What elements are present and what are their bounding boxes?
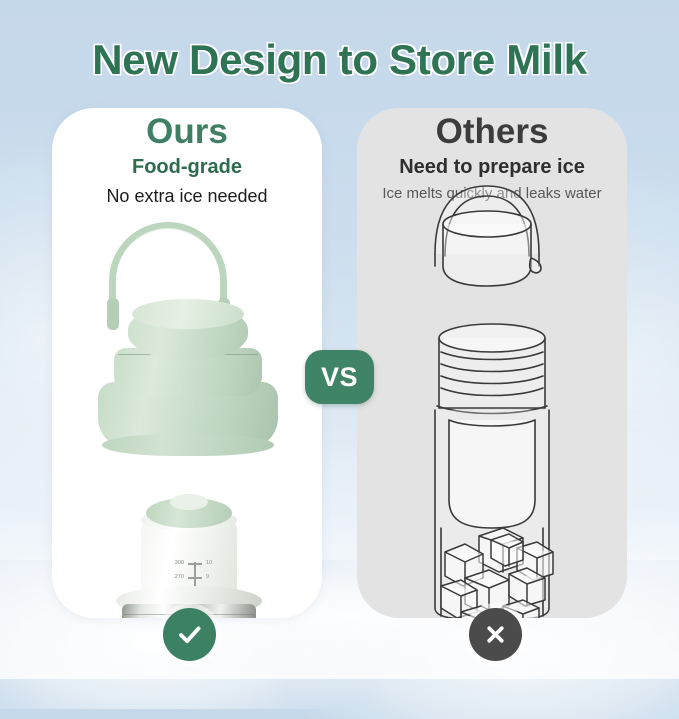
check-icon <box>175 620 204 649</box>
vs-badge: VS <box>305 350 374 404</box>
milk-container-lid-knob <box>170 494 208 510</box>
others-bottle-neck <box>437 324 547 414</box>
verdict-badge-others <box>469 608 522 661</box>
bottle-cap-base-bottom <box>102 434 274 456</box>
bottle-cap-top-face <box>132 299 244 329</box>
cross-icon <box>483 622 508 647</box>
verdict-badge-ours <box>163 608 216 661</box>
scale-label-oz: 9 <box>206 574 209 580</box>
ours-product-illustration: 30010270924082107 <box>52 108 322 618</box>
scale-tick <box>188 563 202 565</box>
bottle-handle-hinge-left <box>107 298 119 330</box>
scale-label-ml: 270 <box>175 574 184 580</box>
others-product-illustration <box>357 108 627 618</box>
others-lid-handle <box>435 186 541 286</box>
scale-tick <box>188 577 202 579</box>
scale-label-oz: 10 <box>206 560 212 566</box>
scale-label-ml: 300 <box>175 560 184 566</box>
page-title: New Design to Store Milk <box>0 36 679 84</box>
